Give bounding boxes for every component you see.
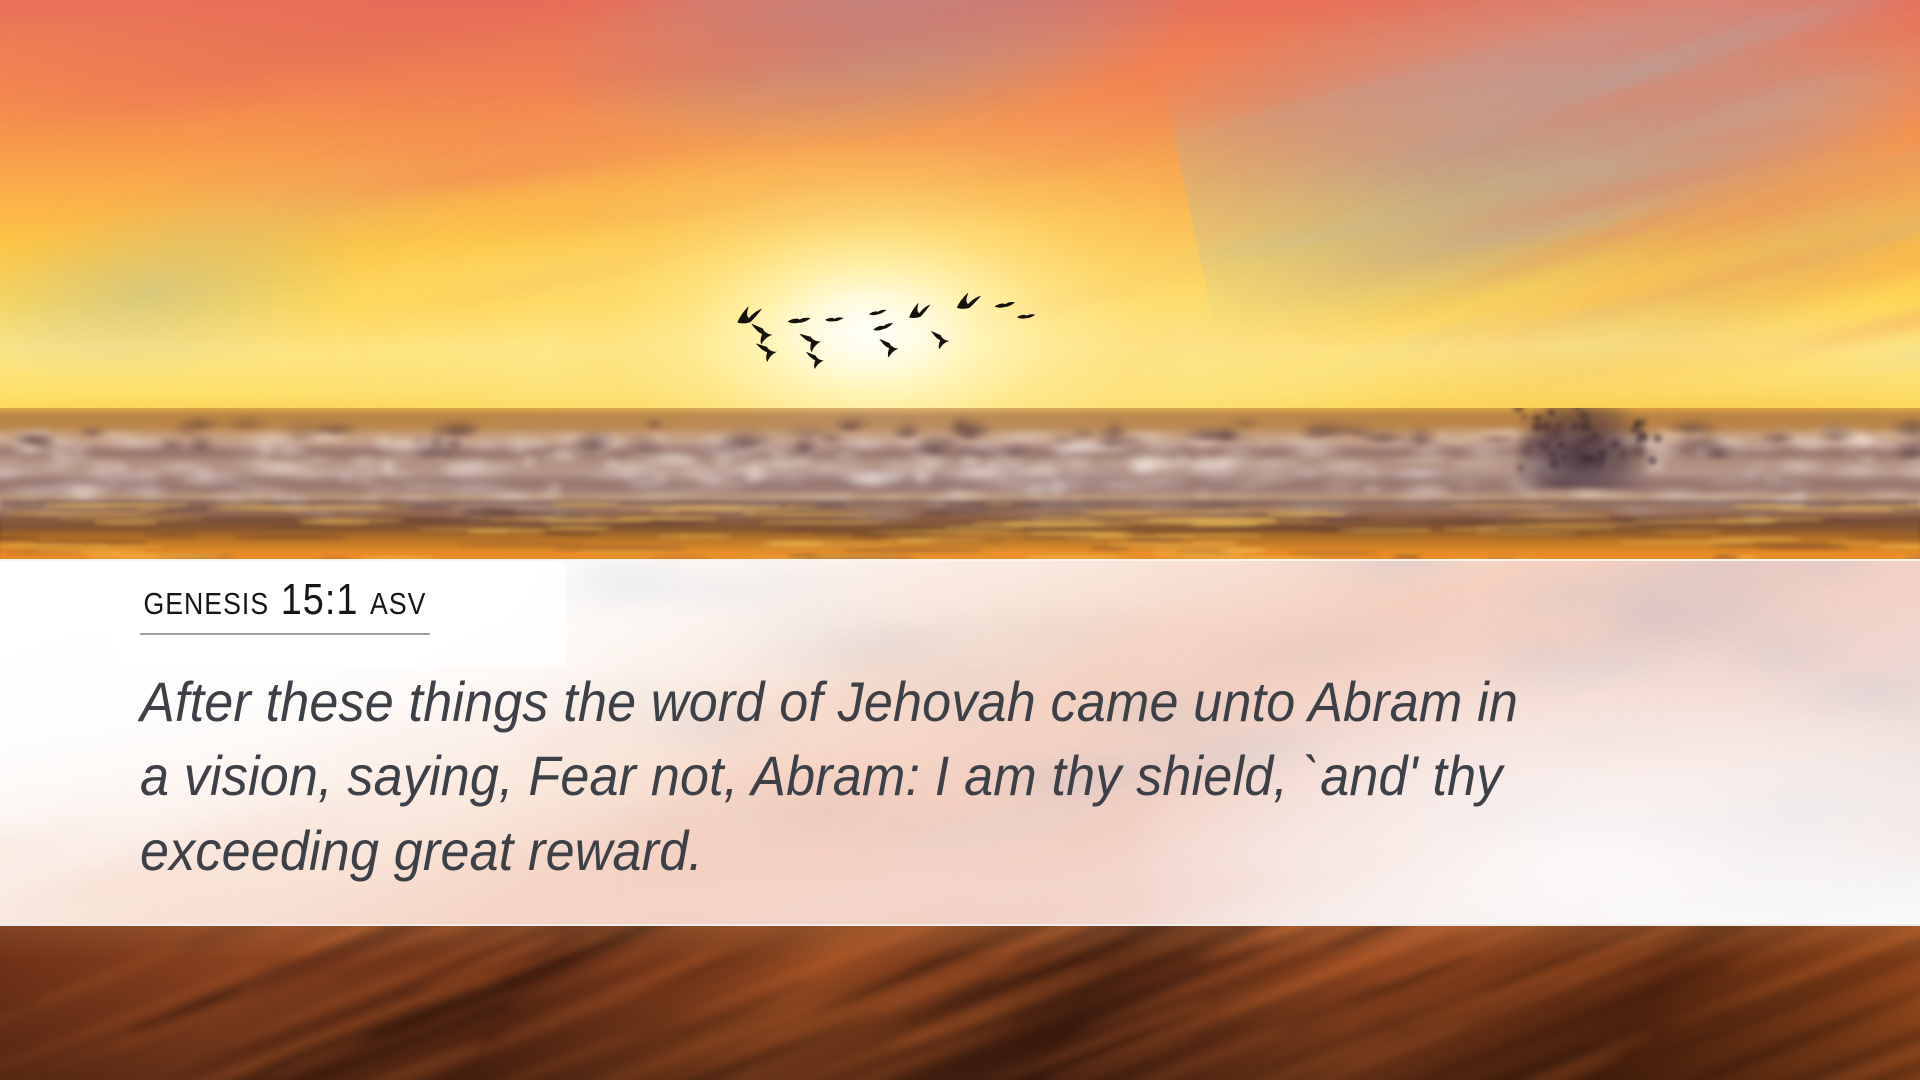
wave-foam — [243, 461, 324, 477]
splash-droplet — [1634, 419, 1639, 429]
bird-icon — [993, 300, 1016, 319]
water-ripple — [1828, 541, 1879, 544]
water-ripple — [1876, 545, 1920, 548]
water-ripple — [234, 536, 345, 539]
crest-bump — [1589, 430, 1608, 444]
bird-icon — [1015, 311, 1036, 329]
water-ripple — [4, 551, 84, 554]
crest-bump — [428, 419, 482, 436]
water-ripple — [907, 508, 1023, 511]
water-ripple — [1288, 552, 1381, 555]
wave-foam — [1402, 482, 1450, 492]
wave-foam — [1193, 469, 1245, 486]
crest-bump — [1212, 425, 1242, 440]
water-ripple — [1633, 520, 1775, 523]
wave-foam — [1696, 478, 1764, 484]
wave-foam — [1771, 458, 1828, 474]
bird-icon — [803, 350, 829, 372]
water-ripple — [1618, 541, 1754, 544]
bird-icon — [753, 341, 783, 365]
wave-foam — [458, 442, 513, 450]
water-ripple — [944, 526, 1023, 529]
wave-foam — [1255, 440, 1273, 449]
wave-foam — [180, 471, 224, 486]
water-ripple — [651, 509, 680, 512]
wave-foam — [1447, 461, 1473, 467]
crest-bump — [185, 431, 216, 451]
water-ripple — [215, 502, 267, 505]
water-ripple — [1213, 509, 1329, 512]
water-ripple — [1157, 534, 1263, 537]
crest-bump — [643, 419, 665, 427]
wave-foam — [41, 463, 74, 472]
water-ripple — [813, 532, 959, 535]
wave-foam — [608, 460, 666, 465]
water-ripple — [1187, 523, 1263, 526]
water-ripple — [1266, 513, 1346, 516]
crest-bump — [568, 429, 620, 450]
water-ripple — [272, 524, 332, 527]
wave-foam — [1842, 447, 1863, 455]
water-ripple — [1651, 517, 1690, 520]
wave-foam — [1289, 438, 1341, 449]
wave-foam — [1386, 456, 1448, 463]
water-ripple — [1757, 546, 1851, 549]
water-ripple — [1127, 538, 1185, 541]
wave-foam — [1127, 460, 1158, 475]
water-ripple — [1710, 544, 1845, 547]
water-ripple — [551, 503, 619, 506]
crest-bump — [221, 414, 271, 429]
water-ripple — [576, 550, 667, 553]
bird-icon — [868, 308, 887, 324]
splash-droplet — [1591, 454, 1608, 471]
bird-icon — [823, 314, 845, 333]
splash-droplet — [1608, 437, 1622, 451]
wave-foam — [800, 462, 854, 470]
water-ripple — [381, 506, 452, 509]
wave-foam — [997, 486, 1071, 494]
wallpaper-canvas: Genesis 15:1 ASV After these things the … — [0, 0, 1920, 1080]
crest-bump — [308, 421, 363, 434]
wave-foam — [1822, 467, 1879, 479]
splash-droplet — [1633, 428, 1648, 438]
crest-bump — [75, 426, 110, 436]
wave-foam — [551, 453, 594, 459]
splash-droplet — [1545, 408, 1558, 417]
water-ripple — [1889, 508, 1920, 511]
verse-band: Genesis 15:1 ASV After these things the … — [0, 559, 1920, 926]
water-ripple — [517, 525, 550, 528]
crest-bump — [1666, 435, 1720, 452]
wave-foam — [1326, 472, 1394, 480]
wave-foam — [937, 462, 1013, 480]
crest-bump — [1815, 422, 1857, 442]
water-ripple — [87, 555, 223, 558]
water-ripple — [1407, 520, 1498, 523]
wave-foam — [1040, 464, 1109, 477]
water-ripple — [767, 542, 825, 545]
wave-foam — [1236, 473, 1302, 485]
crest-bump — [790, 434, 819, 452]
wave-foam — [898, 462, 943, 475]
water-ripple — [779, 504, 847, 507]
water-ripple — [94, 521, 158, 524]
wave-foam — [839, 438, 890, 451]
sand-shading — [0, 926, 1920, 1080]
water-ripple — [1218, 549, 1263, 552]
crest-bump — [1757, 430, 1800, 441]
splash-droplet — [1549, 456, 1561, 472]
splash-droplet — [1516, 462, 1526, 474]
water-ripple — [1090, 547, 1129, 550]
water-ripple — [501, 530, 547, 533]
water-ripple — [1849, 536, 1920, 539]
water-ripple — [1444, 528, 1500, 531]
water-ripple — [207, 507, 312, 510]
crest-bump — [1536, 441, 1573, 453]
water-ripple — [550, 527, 609, 530]
water-ripple — [145, 534, 199, 537]
bird-icon — [954, 291, 986, 318]
water-ripple — [1180, 554, 1215, 557]
verse-content: Genesis 15:1 ASV After these things the … — [0, 561, 1920, 926]
water-ripple — [1509, 514, 1611, 517]
verse-text: After these things the word of Jehovah c… — [140, 665, 1554, 888]
bird-icon — [876, 337, 905, 361]
water-ripple — [998, 532, 1135, 535]
splash-droplet — [1652, 432, 1663, 445]
water-ripple — [1023, 535, 1096, 538]
water-ripple — [919, 513, 952, 516]
water-ripple — [485, 511, 581, 514]
wave-foam — [269, 442, 310, 447]
ripple-layer — [0, 498, 1920, 562]
water-ripple — [1108, 543, 1201, 546]
wave-foam — [526, 443, 549, 448]
crest-bump — [1095, 426, 1132, 436]
wave-foam — [135, 482, 172, 494]
splash-droplet — [1649, 457, 1659, 465]
water-ripple — [0, 537, 41, 540]
wave-foam — [1457, 444, 1519, 448]
water-ripple — [5, 512, 149, 515]
foreground-sand — [0, 926, 1920, 1080]
verse-reference: Genesis 15:1 ASV — [140, 573, 430, 635]
water-ripple — [457, 543, 586, 546]
water-ripple — [678, 535, 730, 538]
water-ripple — [765, 529, 821, 532]
water-ripple — [1451, 505, 1559, 508]
water-ripple — [105, 506, 221, 509]
water-ripple — [670, 507, 795, 510]
crest-bump — [816, 431, 848, 442]
wave-foam — [609, 468, 659, 483]
crest-bump — [1401, 430, 1440, 447]
crest-bump — [622, 432, 665, 452]
water-ripple — [897, 539, 936, 542]
water-ripple — [1475, 526, 1617, 529]
water-ripple — [841, 549, 984, 552]
wave-foam — [1747, 463, 1772, 469]
crest-bump — [1297, 424, 1332, 439]
bird-icon — [905, 300, 936, 327]
wave-foam — [1360, 484, 1380, 492]
wave-foam — [591, 452, 611, 457]
water-ripple — [0, 544, 110, 547]
water-ripple — [760, 521, 884, 524]
water-ripple — [1026, 504, 1109, 507]
wave-foam — [1729, 485, 1791, 494]
crest-bump — [29, 433, 60, 448]
water-ripple — [542, 532, 599, 535]
wave-foam — [1096, 461, 1126, 465]
wave-foam — [448, 468, 480, 479]
water-ripple — [1191, 504, 1240, 507]
bird-icon — [927, 329, 956, 353]
wave-foam — [1119, 452, 1184, 461]
crest-bump — [717, 428, 775, 446]
verse-reference-wrap: Genesis 15:1 ASV — [140, 573, 477, 635]
